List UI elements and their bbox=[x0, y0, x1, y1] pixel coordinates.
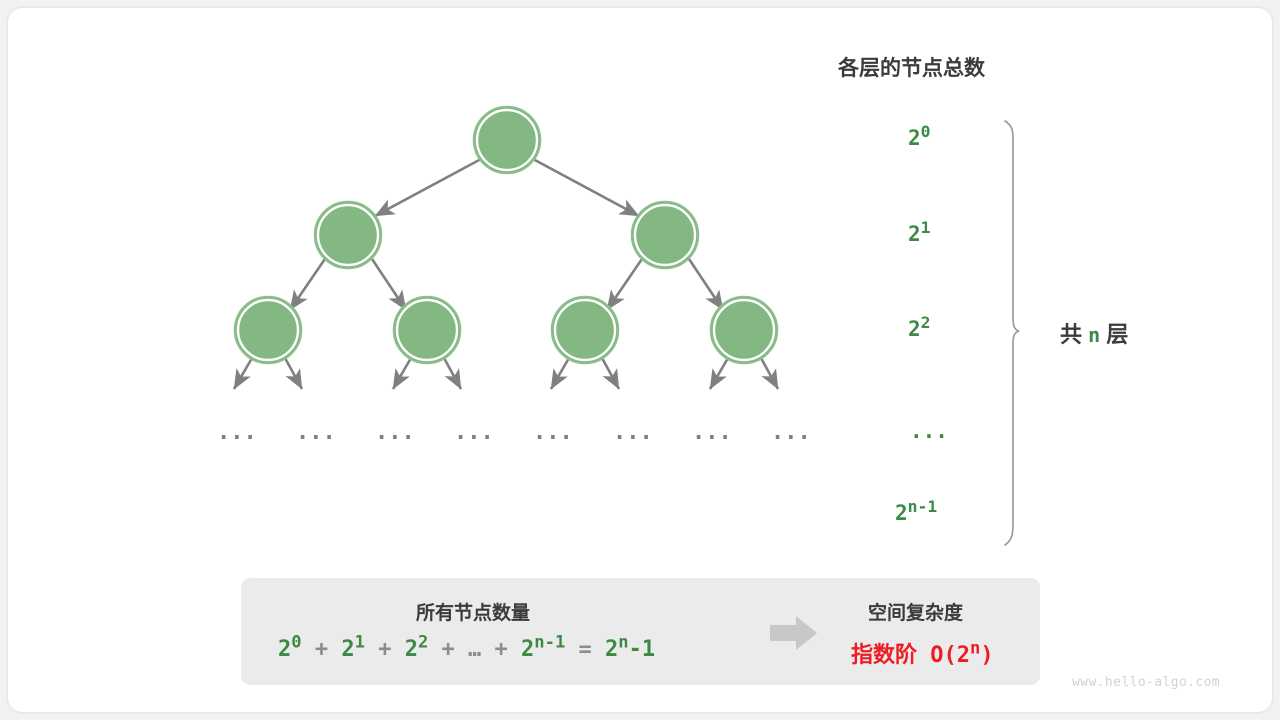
level-label-2-base: 2 bbox=[908, 317, 921, 341]
tree-dots-2: ... bbox=[375, 420, 415, 445]
formula-result: 2n-1 bbox=[605, 637, 655, 662]
level-label-2: 22 bbox=[908, 317, 931, 341]
summary-right-title: 空间复杂度 bbox=[868, 598, 963, 625]
level-label-last-base: 2 bbox=[895, 501, 908, 525]
complexity-label: 指数阶 bbox=[851, 642, 917, 667]
tree-dots-6: ... bbox=[692, 420, 732, 445]
tree-nodes bbox=[235, 107, 778, 364]
total-layers-var: n bbox=[1088, 323, 1100, 347]
tree-dots-1: ... bbox=[296, 420, 336, 445]
formula-equals: = bbox=[579, 637, 592, 662]
formula-plus-2: + bbox=[442, 637, 455, 662]
formula-term-4: 2n-1 bbox=[521, 637, 565, 662]
level-label-0: 20 bbox=[908, 126, 931, 150]
level-label-ellipsis: ... bbox=[910, 419, 948, 443]
formula-plus-0: + bbox=[315, 637, 328, 662]
level-label-1-base: 2 bbox=[908, 222, 921, 246]
formula-plus-3: + bbox=[495, 637, 508, 662]
tree-dots-3: ... bbox=[454, 420, 494, 445]
right-arrow-icon bbox=[770, 616, 818, 650]
summary-left-title: 所有节点数量 bbox=[416, 598, 530, 625]
formula-term-1: 21 bbox=[341, 637, 365, 662]
complexity-bigo: O(2n) bbox=[930, 643, 993, 668]
level-label-last: 2n-1 bbox=[895, 501, 937, 525]
formula-term-0: 20 bbox=[278, 637, 302, 662]
total-layers-label: 共 n 层 bbox=[1060, 317, 1128, 349]
complexity-value: 指数阶 O(2n) bbox=[851, 637, 994, 669]
level-label-last-exp: n-1 bbox=[908, 497, 938, 516]
level-label-1: 21 bbox=[908, 222, 931, 246]
tree-dots-0: ... bbox=[217, 420, 257, 445]
tree-dots-7: ... bbox=[771, 420, 811, 445]
diagram-canvas: 各层的节点总数 20 21 22 ... 2n-1 共 n 层 ... ... … bbox=[0, 0, 1280, 720]
column-header: 各层的节点总数 bbox=[838, 52, 985, 82]
total-layers-suffix: 层 bbox=[1106, 322, 1128, 347]
tree-dots-4: ... bbox=[533, 420, 573, 445]
total-layers-prefix: 共 bbox=[1060, 322, 1082, 347]
summary-formula: 20 + 21 + 22 + … + 2n-1 = 2n-1 bbox=[278, 637, 655, 662]
level-label-0-base: 2 bbox=[908, 126, 921, 150]
formula-plus-1: + bbox=[378, 637, 391, 662]
level-label-2-exp: 2 bbox=[921, 313, 931, 332]
watermark: www.hello-algo.com bbox=[1072, 675, 1220, 690]
level-label-1-exp: 1 bbox=[921, 218, 931, 237]
formula-term-2: 22 bbox=[405, 637, 429, 662]
level-label-0-exp: 0 bbox=[921, 122, 931, 141]
tree-dots-5: ... bbox=[613, 420, 653, 445]
formula-term-ellipsis: … bbox=[468, 637, 481, 662]
tree-edges bbox=[234, 159, 778, 389]
levels-brace bbox=[1005, 121, 1019, 545]
